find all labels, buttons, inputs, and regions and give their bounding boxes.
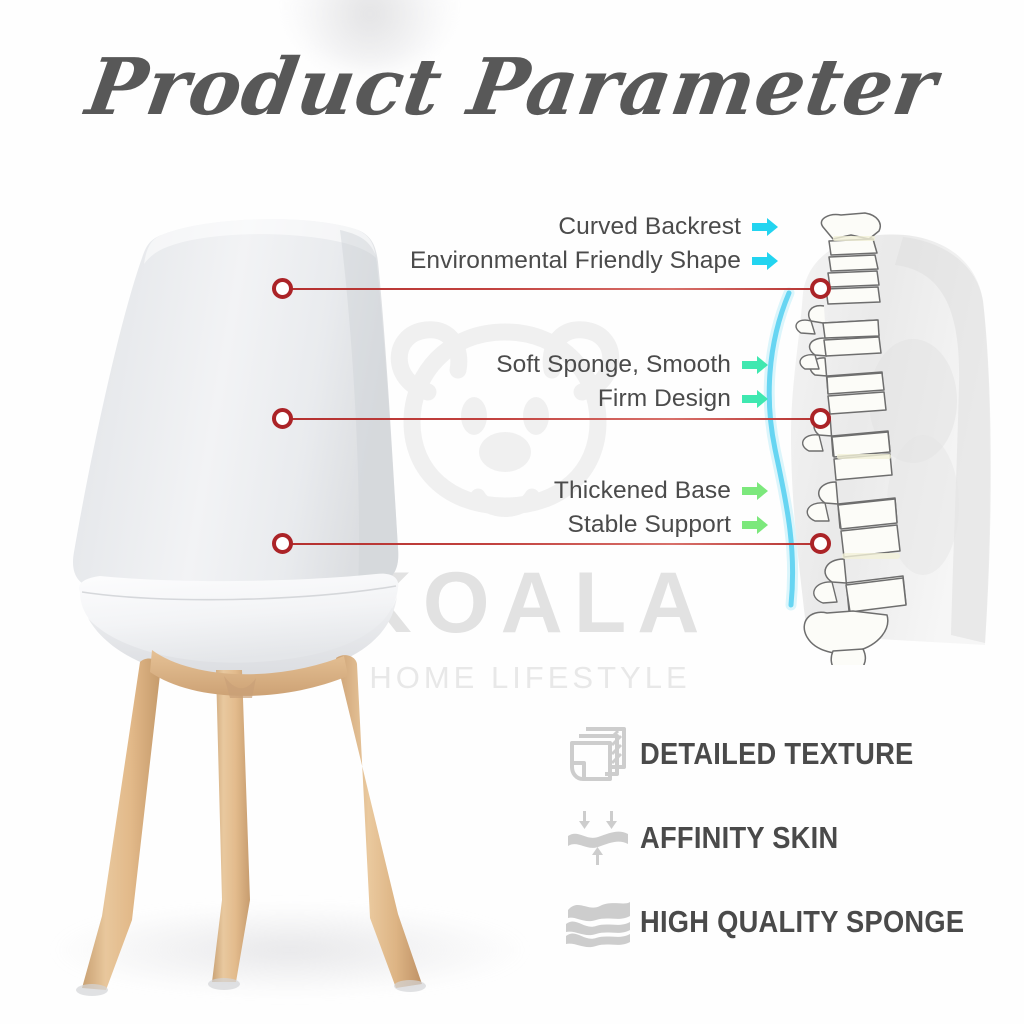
callout-row: Soft Sponge, Smooth bbox=[330, 348, 770, 382]
compression-wave-icon bbox=[564, 809, 632, 867]
sponge-layers-icon bbox=[562, 892, 634, 952]
feature-icon-slot bbox=[556, 892, 640, 952]
marker-dot-chair-2[interactable] bbox=[272, 408, 293, 429]
infographic-canvas: KOALA HOME LIFESTYLE Product Parameter bbox=[0, 0, 1024, 1024]
feature-item-detailed-texture: DETAILED TEXTURE bbox=[556, 712, 976, 796]
arrow-right-icon bbox=[750, 251, 780, 271]
feature-item-affinity-skin: AFFINITY SKIN bbox=[556, 796, 976, 880]
callout-text: Stable Support bbox=[568, 511, 732, 539]
marker-dot-spine-2[interactable] bbox=[810, 408, 831, 429]
callout-text: Firm Design bbox=[598, 385, 731, 413]
callout-row: Thickened Base bbox=[340, 474, 770, 508]
feature-item-high-quality-sponge: HIGH QUALITY SPONGE bbox=[556, 880, 976, 964]
marker-dot-spine-3[interactable] bbox=[810, 533, 831, 554]
leader-line-1 bbox=[286, 288, 822, 290]
callout-row: Firm Design bbox=[330, 382, 770, 416]
feature-label: HIGH QUALITY SPONGE bbox=[640, 904, 964, 940]
arrow-right-icon bbox=[740, 515, 770, 535]
arrow-right-icon bbox=[740, 389, 770, 409]
fabric-swatch-stack-icon bbox=[566, 723, 630, 785]
leader-line-2 bbox=[286, 418, 822, 420]
callout-text: Thickened Base bbox=[554, 477, 731, 505]
feature-icon-slot bbox=[556, 809, 640, 867]
feature-label: DETAILED TEXTURE bbox=[640, 736, 914, 772]
callout-row: Curved Backrest bbox=[330, 210, 780, 244]
callout-base: Thickened Base Stable Support bbox=[340, 474, 770, 542]
callout-sponge: Soft Sponge, Smooth Firm Design bbox=[330, 348, 770, 416]
arrow-right-icon bbox=[740, 355, 770, 375]
arrow-right-icon bbox=[750, 217, 780, 237]
callout-text: Environmental Friendly Shape bbox=[410, 247, 741, 275]
callout-row: Environmental Friendly Shape bbox=[330, 244, 780, 278]
human-spine-anatomy-illustration bbox=[745, 205, 1020, 665]
callout-text: Curved Backrest bbox=[558, 213, 741, 241]
page-title: Product Parameter bbox=[0, 42, 1024, 133]
arrow-right-icon bbox=[740, 481, 770, 501]
white-molded-dining-chair bbox=[40, 200, 510, 1010]
callout-row: Stable Support bbox=[340, 508, 770, 542]
marker-dot-spine-1[interactable] bbox=[810, 278, 831, 299]
leader-line-3 bbox=[286, 543, 822, 545]
callout-text: Soft Sponge, Smooth bbox=[496, 351, 731, 379]
marker-dot-chair-3[interactable] bbox=[272, 533, 293, 554]
feature-list: DETAILED TEXTURE AFFINITY SKIN bbox=[556, 712, 976, 964]
feature-icon-slot bbox=[556, 723, 640, 785]
marker-dot-chair-1[interactable] bbox=[272, 278, 293, 299]
feature-label: AFFINITY SKIN bbox=[640, 820, 838, 856]
callout-backrest: Curved Backrest Environmental Friendly S… bbox=[330, 210, 780, 278]
